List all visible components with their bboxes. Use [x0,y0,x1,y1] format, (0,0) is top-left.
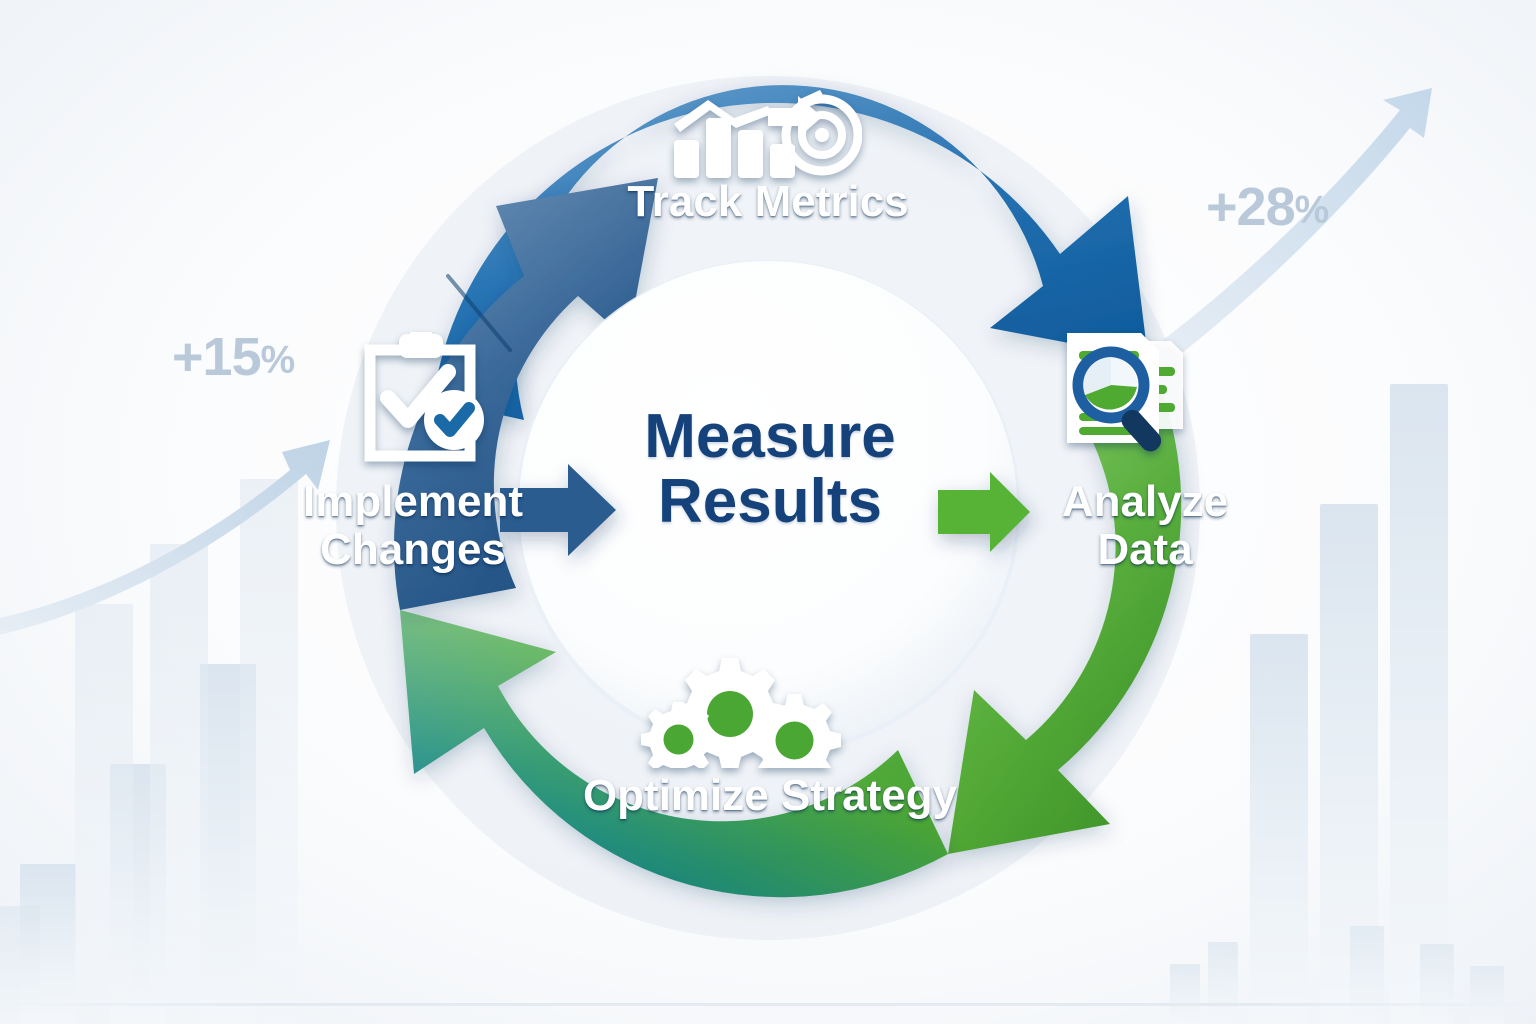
diagram-canvas: +15% +28% [0,0,1536,1024]
center-title: Measure Results [590,404,950,534]
stat-right-symbol: % [1295,189,1329,232]
